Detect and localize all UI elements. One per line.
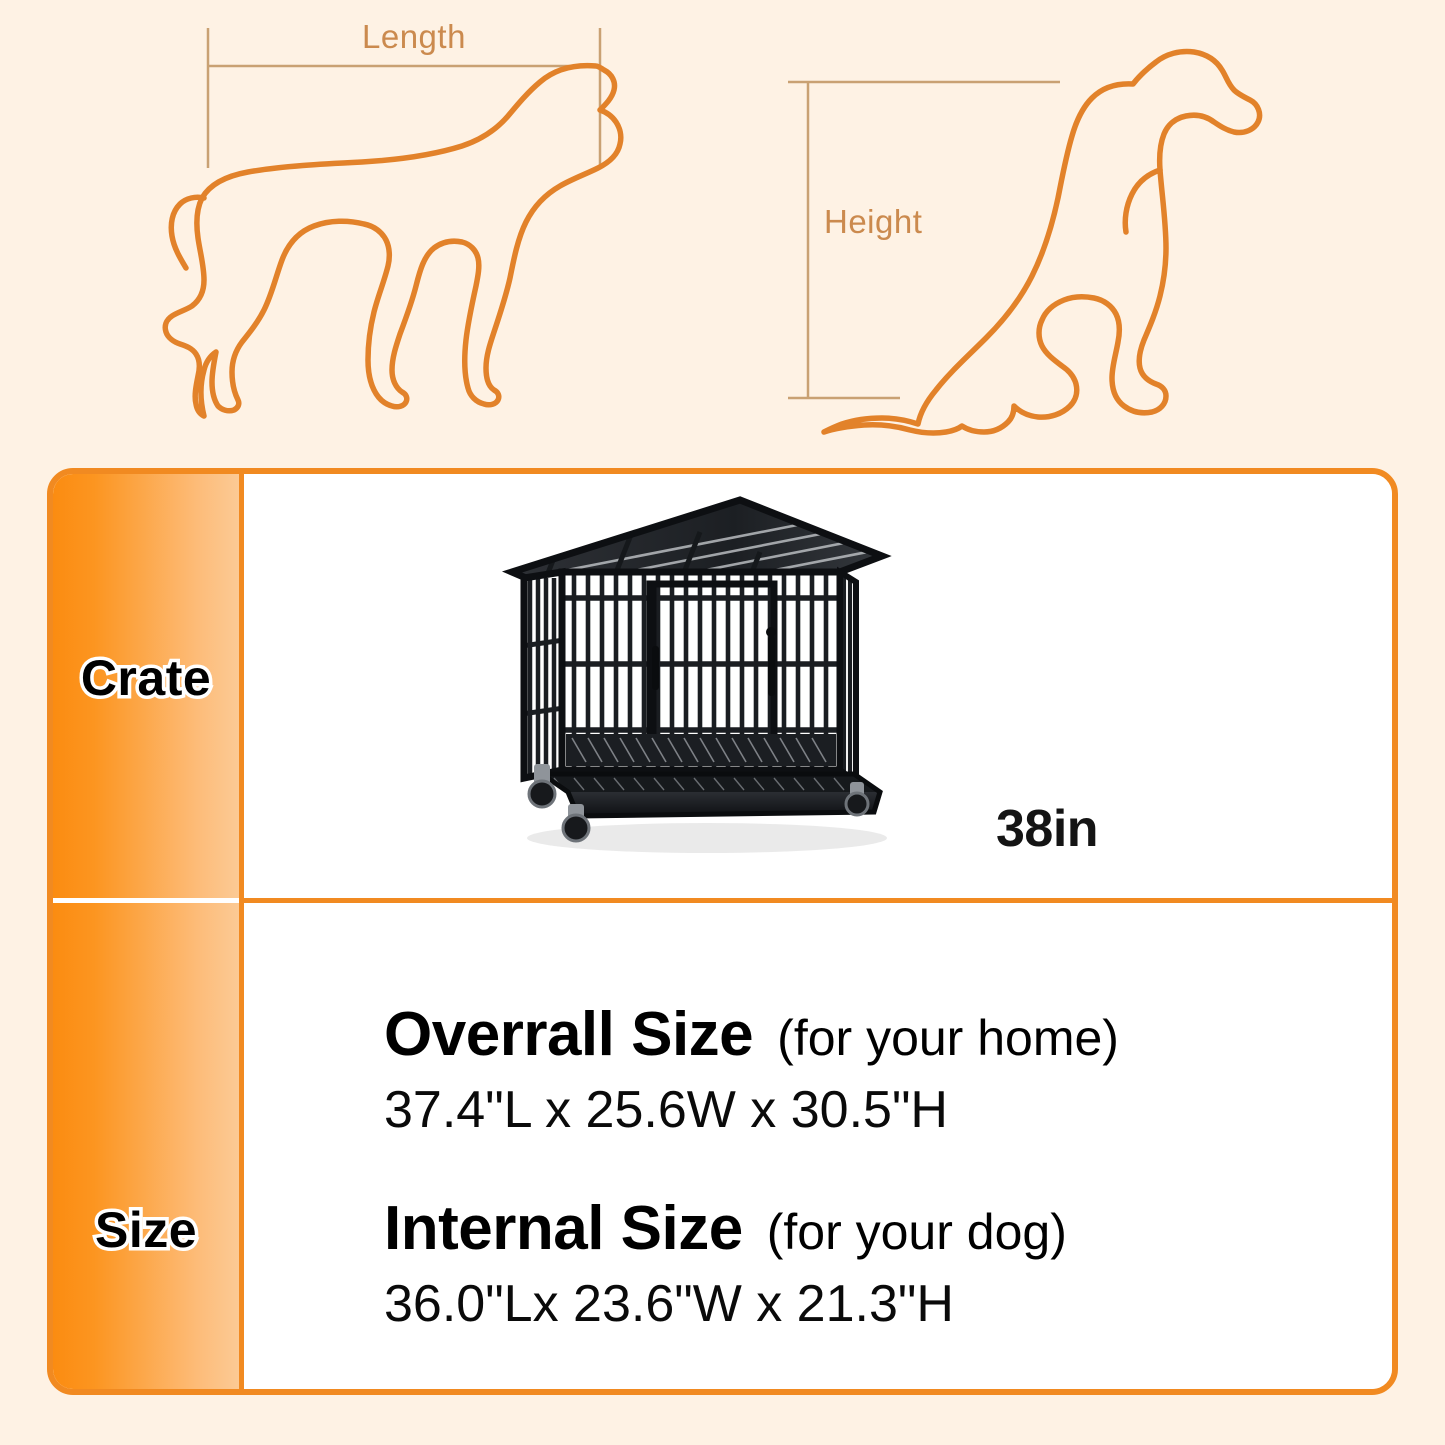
- overall-size-heading-line: Overrall Size (for your home): [384, 999, 1119, 1070]
- crate-tray: [542, 774, 880, 816]
- crate-photo-row: 38in: [244, 474, 1392, 898]
- internal-size-dimensions: 36.0"Lx 23.6"W x 21.3"H: [384, 1274, 1067, 1334]
- crate-mesh-floor: [566, 734, 836, 766]
- overall-size-qualifier: (for your home): [777, 1009, 1119, 1067]
- internal-size-heading-line: Internal Size (for your dog): [384, 1193, 1067, 1264]
- height-dimension-label: Height: [824, 203, 922, 241]
- heavy-duty-dog-crate-photo: [482, 486, 912, 876]
- sitting-dog-silhouette: [824, 51, 1260, 433]
- spec-card: Crate Size: [47, 468, 1398, 1395]
- row-label-size-text: Size: [95, 1201, 197, 1259]
- crate-size-caption: 38in: [996, 799, 1098, 859]
- row-label-crate-text: Crate: [81, 649, 211, 707]
- row-label-cell-size: Size: [53, 898, 239, 1389]
- overall-size-dimensions: 37.4"L x 25.6W x 30.5"H: [384, 1080, 1119, 1140]
- standing-dog-silhouette: [165, 66, 621, 416]
- crate-left-side-panel: [522, 572, 564, 782]
- crate-right-side-panel: [840, 572, 856, 782]
- length-dimension-label: Length: [362, 18, 466, 56]
- label-column-divider: [53, 898, 239, 903]
- content-column: 38in Overrall Size (for your home) 37.4"…: [239, 474, 1392, 1389]
- internal-size-block: Internal Size (for your dog) 36.0"Lx 23.…: [384, 1193, 1067, 1334]
- overall-size-block: Overrall Size (for your home) 37.4"L x 2…: [384, 999, 1119, 1140]
- row-label-cell-crate: Crate: [53, 474, 239, 898]
- silhouette-svg: [0, 0, 1445, 460]
- internal-size-heading: Internal Size: [384, 1193, 743, 1264]
- size-spec-row: Overrall Size (for your home) 37.4"L x 2…: [244, 903, 1392, 1389]
- row-label-column: Crate Size: [53, 474, 239, 1389]
- dog-measurement-diagram: Length Height: [0, 0, 1445, 460]
- internal-size-qualifier: (for your dog): [767, 1203, 1067, 1261]
- overall-size-heading: Overrall Size: [384, 999, 753, 1070]
